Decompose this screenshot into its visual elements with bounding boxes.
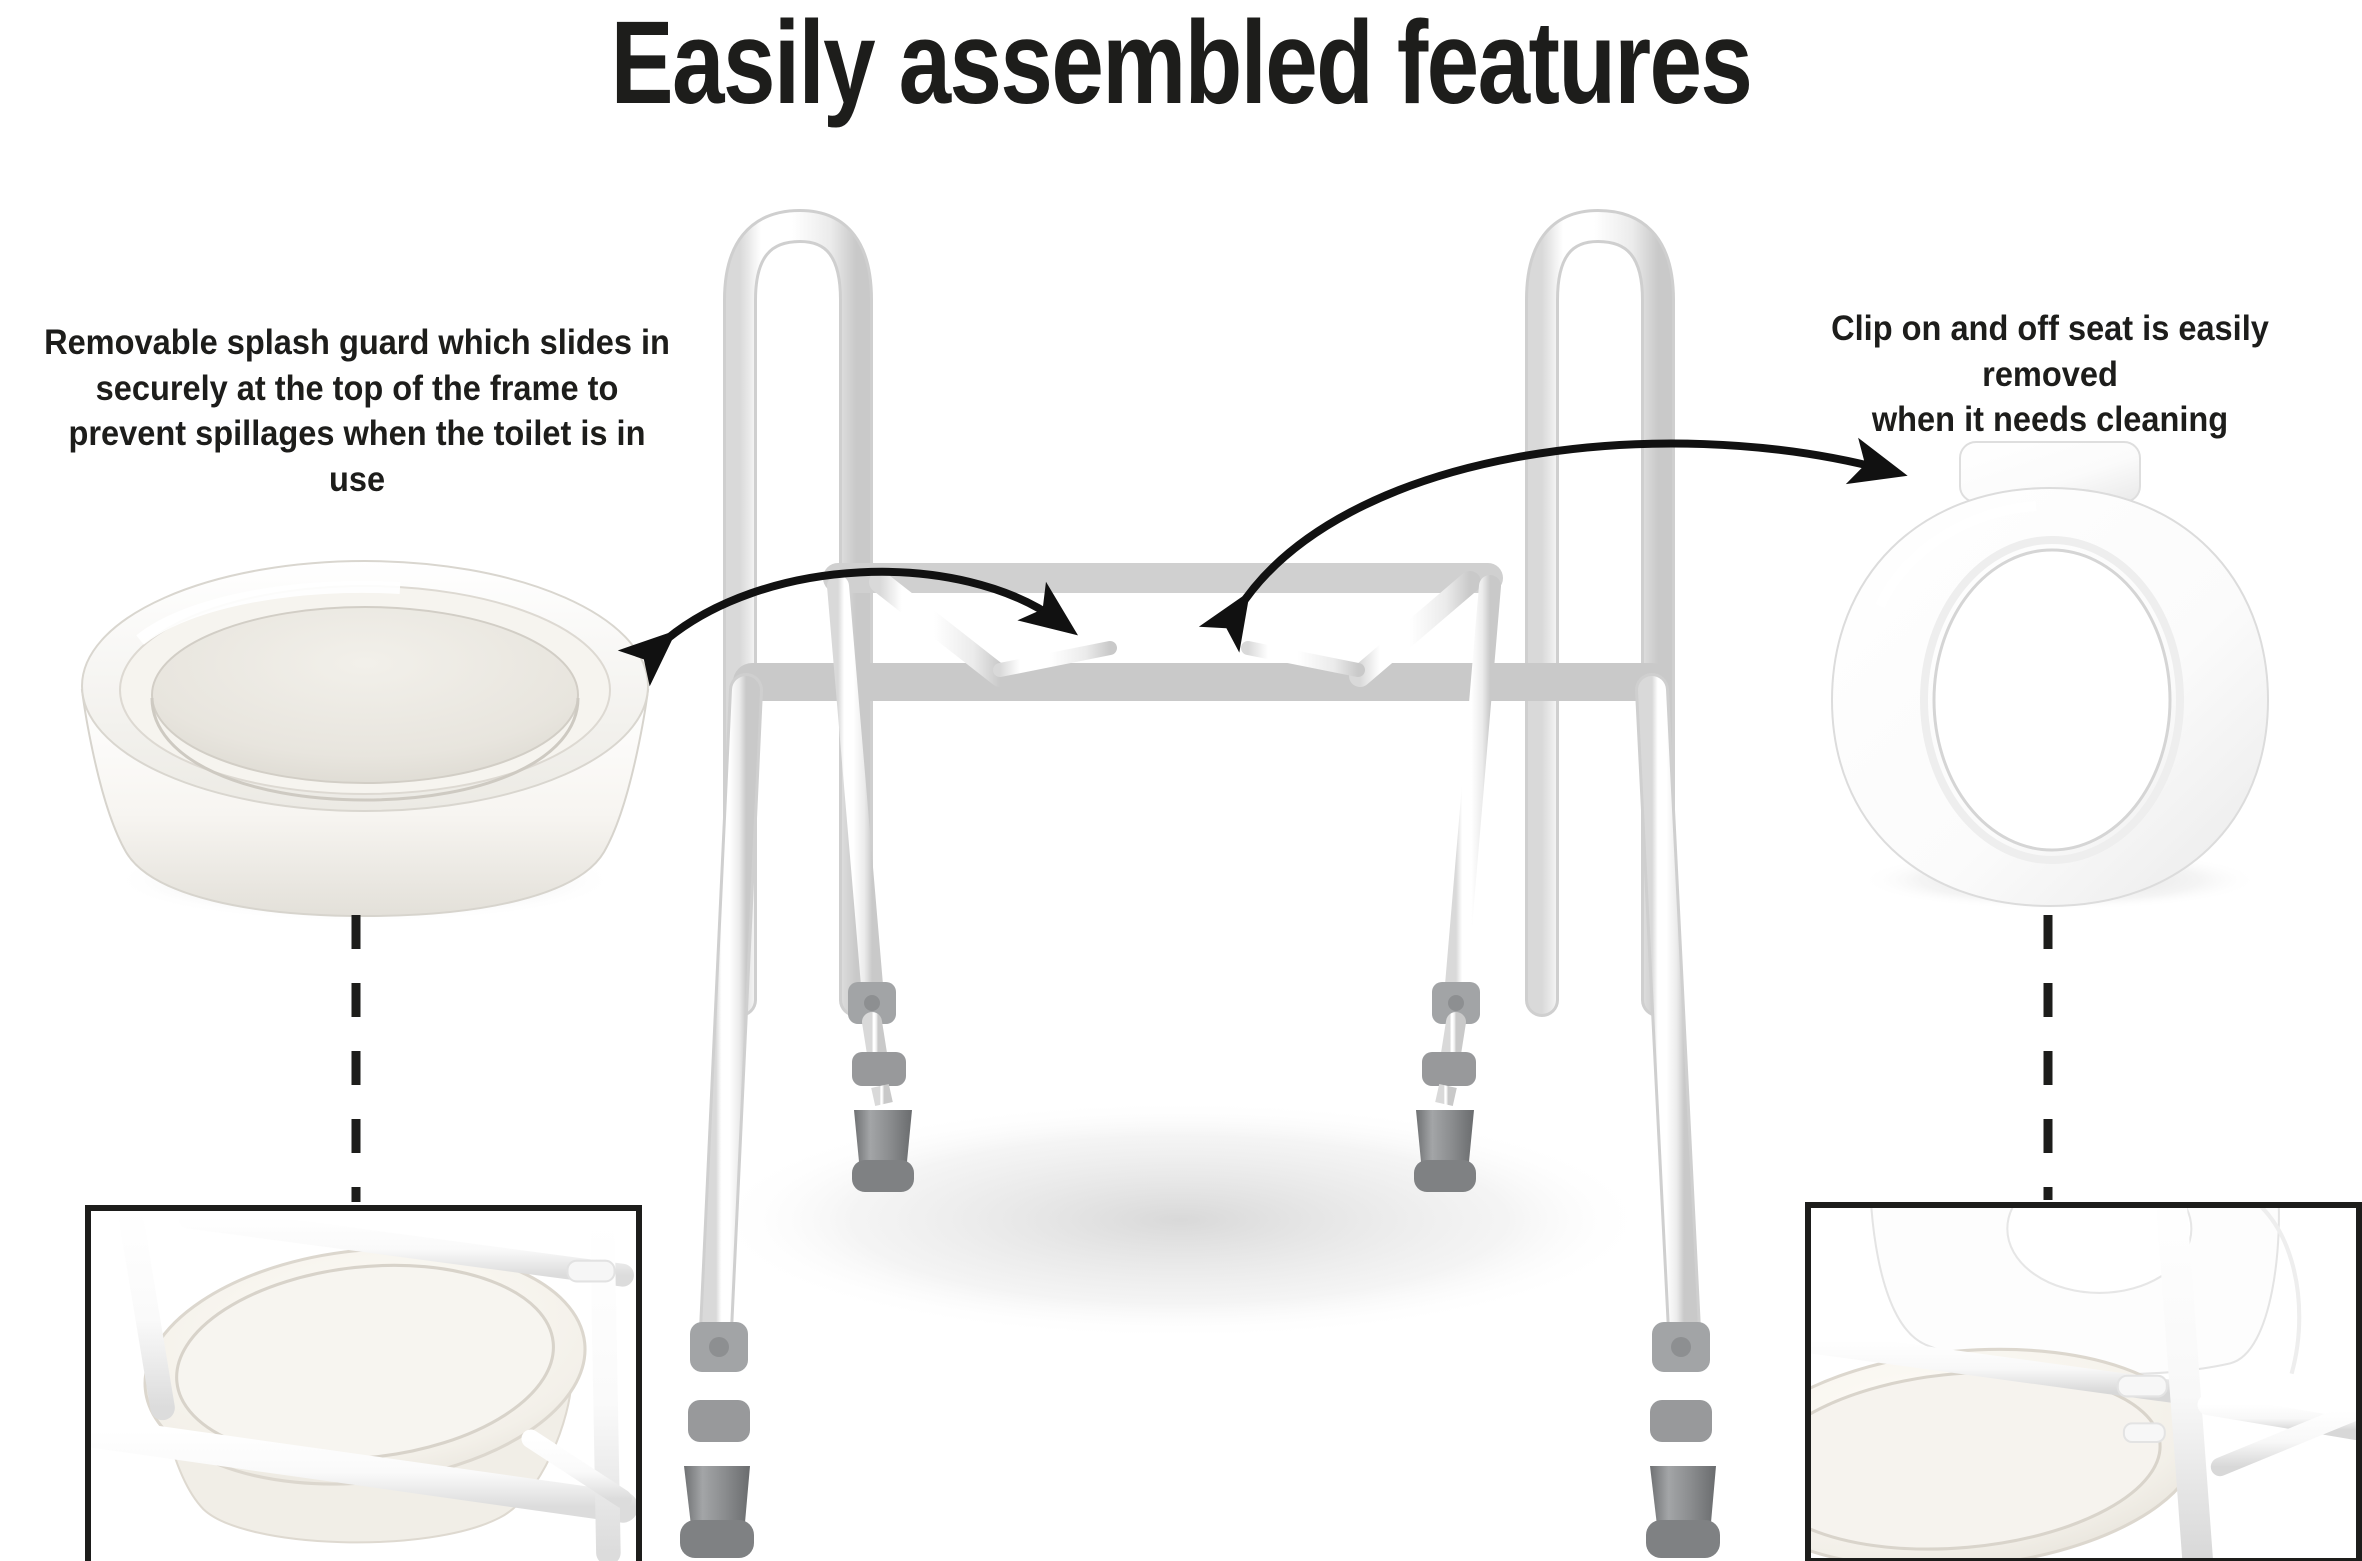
right-armrest-edge xyxy=(1542,226,1658,1000)
front-right-leg-collar xyxy=(1650,1400,1712,1442)
toilet-frame xyxy=(680,226,1720,1558)
front-right-leg-tube xyxy=(1652,690,1684,1330)
front-left-foot-base xyxy=(680,1520,754,1558)
inset-right-art xyxy=(1811,1208,2356,1558)
splash-guard-fitted-photo xyxy=(85,1205,642,1561)
rear-left-leg-collar xyxy=(852,1052,906,1086)
rear-right-foot-base xyxy=(1414,1160,1476,1192)
inset-left-seat-peg xyxy=(567,1261,614,1282)
front-right-foot-base xyxy=(1646,1520,1720,1558)
right-armrest-tube xyxy=(1542,226,1658,1000)
rear-right-leg-tube xyxy=(1456,586,1490,985)
splash-guard-bowl xyxy=(82,561,648,922)
front-left-leg-collar xyxy=(688,1400,750,1442)
rear-left-leg-button-icon xyxy=(864,995,880,1011)
frame-front-right-leg xyxy=(1646,690,1720,1558)
infographic-canvas: Easily assembled features Removable spla… xyxy=(0,0,2362,1561)
seat-lifted-photo xyxy=(1805,1202,2362,1561)
frame-front-left-leg xyxy=(680,690,754,1558)
frame-floor-shadow xyxy=(710,1100,1650,1340)
seat-aperture xyxy=(1934,550,2170,850)
inset-left-art xyxy=(91,1211,636,1561)
rear-right-leg-button-icon xyxy=(1448,995,1464,1011)
frame-right-armrest xyxy=(1542,226,1658,1000)
bowl-opening xyxy=(152,607,578,783)
frame-left-brace xyxy=(880,582,1000,676)
rear-right-leg-stub xyxy=(1444,1086,1448,1104)
rear-right-leg-collar xyxy=(1422,1052,1476,1086)
rear-left-leg-stub xyxy=(880,1086,884,1104)
toilet-seat xyxy=(1832,442,2268,910)
inset-right-seat-clip-2 xyxy=(2124,1423,2165,1442)
front-right-leg-button-icon xyxy=(1671,1337,1691,1357)
frame-right-brace xyxy=(1360,582,1470,676)
inset-right-seat-clip xyxy=(2118,1376,2167,1397)
front-left-leg-button-icon xyxy=(709,1337,729,1357)
rear-left-foot-base xyxy=(852,1160,914,1192)
